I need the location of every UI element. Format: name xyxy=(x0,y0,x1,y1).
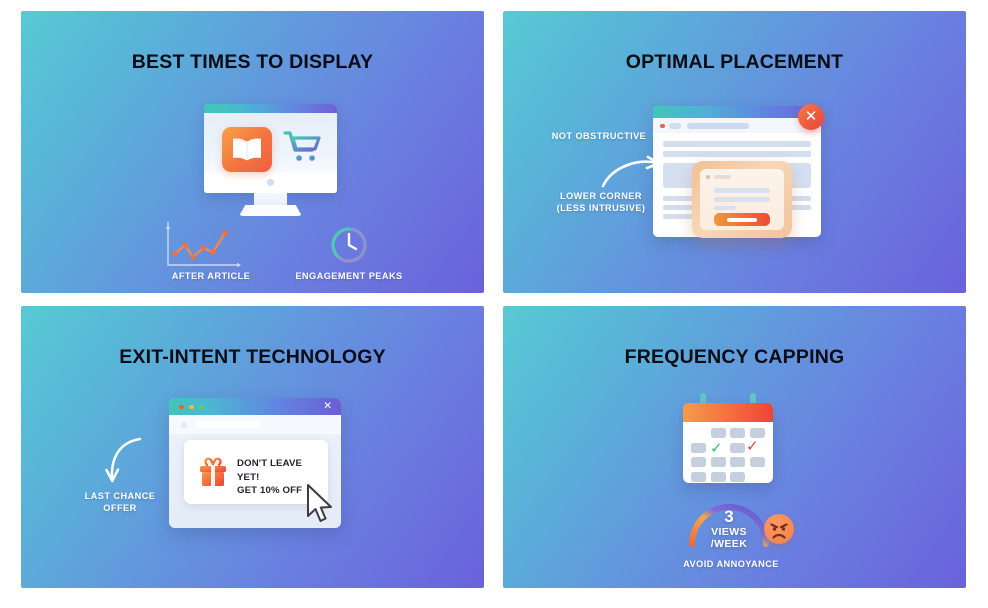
panel-frequency-capping: FREQUENCY CAPPING ✓ ✓ xyxy=(503,306,966,588)
check-icon: ✓ xyxy=(710,441,723,456)
browser-window-icon: ✕ xyxy=(169,398,341,528)
caption-engagement-peaks: ENGAGEMENT PEAKS xyxy=(284,271,414,283)
mouse-cursor-icon xyxy=(304,483,338,525)
gift-box-icon xyxy=(197,456,229,488)
caption-avoid-annoyance: AVOID ANNOYANCE xyxy=(643,559,819,571)
angry-face-icon xyxy=(764,514,794,544)
book-glyph xyxy=(231,137,263,162)
shopping-cart-icon xyxy=(283,130,321,164)
check-icon: ✓ xyxy=(746,439,759,454)
desktop-monitor-icon xyxy=(204,104,337,220)
caption-lower-corner-line1: LOWER CORNER xyxy=(531,191,671,203)
calendar-icon: ✓ ✓ xyxy=(683,393,773,483)
page-title: FREQUENCY CAPPING xyxy=(503,346,966,369)
caption-lower-corner: LOWER CORNER (LESS INTRUSIVE) xyxy=(531,191,671,215)
open-book-icon xyxy=(222,127,272,172)
gauge-unit: VIEWS /WEEK xyxy=(685,526,773,551)
curved-arrow-icon xyxy=(600,155,666,190)
modal-popup-icon xyxy=(692,161,792,238)
panel-best-times-to-display: BEST TIMES TO DISPLAY xyxy=(21,11,484,293)
close-icon[interactable]: ✕ xyxy=(323,400,332,412)
page-title: BEST TIMES TO DISPLAY xyxy=(21,51,484,74)
gauge-unit-line1: VIEWS xyxy=(685,526,773,538)
line-chart-icon xyxy=(163,220,243,273)
close-icon[interactable]: ✕ xyxy=(798,104,824,130)
caption-lower-corner-line2: (LESS INTRUSIVE) xyxy=(531,203,671,215)
caption-last-chance-line1: LAST CHANCE xyxy=(61,491,179,503)
caption-last-chance-offer: LAST CHANCE OFFER xyxy=(61,491,179,515)
panel-grid: BEST TIMES TO DISPLAY xyxy=(21,11,966,588)
gauge-value: 3 xyxy=(685,508,773,525)
panel-optimal-placement: OPTIMAL PLACEMENT ✕ xyxy=(503,11,966,293)
caption-last-chance-line2: OFFER xyxy=(61,503,179,515)
caption-after-article: AFTER ARTICLE xyxy=(151,271,271,283)
exit-intent-line1: DON'T LEAVE YET! xyxy=(237,457,327,484)
page-title: OPTIMAL PLACEMENT xyxy=(503,51,966,74)
browser-window-icon: ✕ xyxy=(653,106,821,237)
gauge-unit-line2: /WEEK xyxy=(685,538,773,550)
page-title: EXIT-INTENT TECHNOLOGY xyxy=(21,346,484,369)
clock-icon xyxy=(329,225,369,265)
curved-arrow-icon xyxy=(99,436,144,491)
caption-not-obstructive: NOT OBSTRUCTIVE xyxy=(529,131,669,143)
panel-exit-intent-technology: EXIT-INTENT TECHNOLOGY ✕ xyxy=(21,306,484,588)
popup-cta-button[interactable] xyxy=(714,213,770,226)
